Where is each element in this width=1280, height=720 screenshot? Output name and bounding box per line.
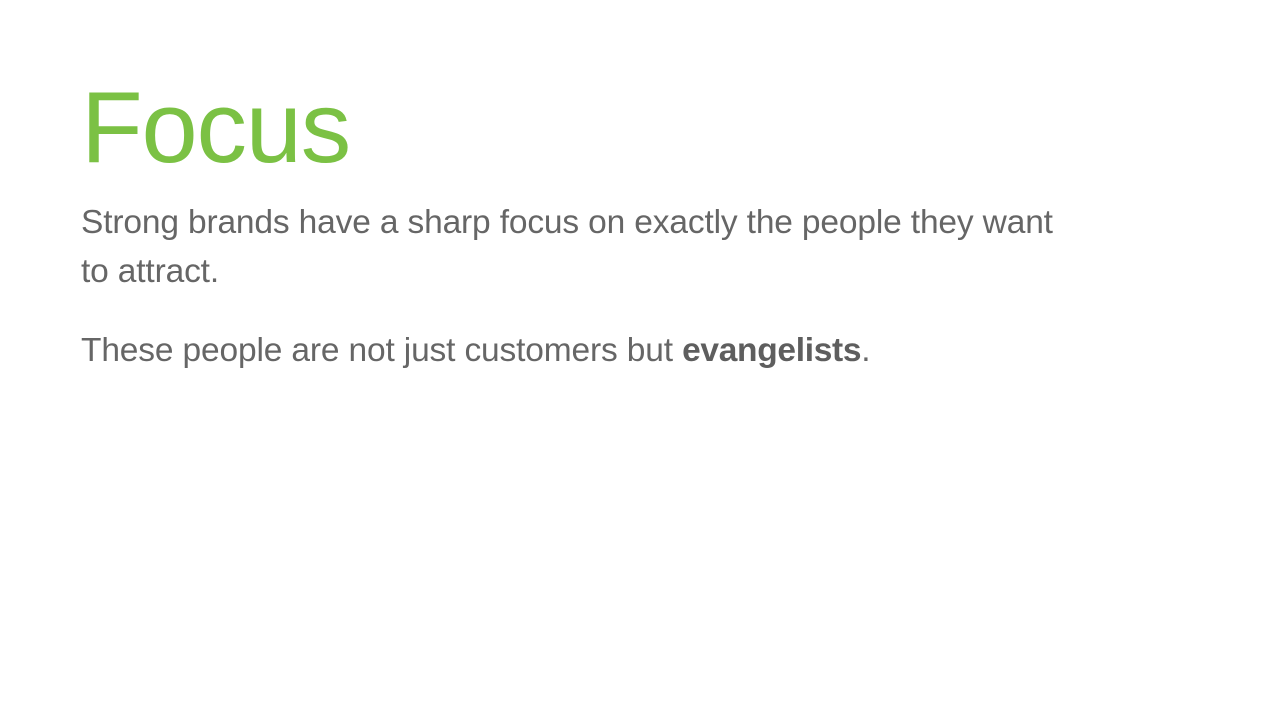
page-title: Focus [81, 78, 1091, 182]
body-paragraph-focus-definition: Strong brands have a sharp focus on exac… [81, 198, 1081, 296]
presentation-slide: Focus Strong brands have a sharp focus o… [0, 0, 1280, 720]
body-text-run-trailing: . [861, 332, 870, 369]
slide-content-block: Focus Strong brands have a sharp focus o… [81, 78, 1091, 375]
body-text-run: Strong brands have a sharp focus on exac… [81, 204, 1053, 290]
emphasized-term: evangelists [682, 332, 861, 369]
slide-body: Strong brands have a sharp focus on exac… [81, 198, 1091, 375]
body-paragraph-evangelists: These people are not just customers but … [81, 326, 1081, 375]
body-text-run: These people are not just customers but [81, 332, 682, 369]
